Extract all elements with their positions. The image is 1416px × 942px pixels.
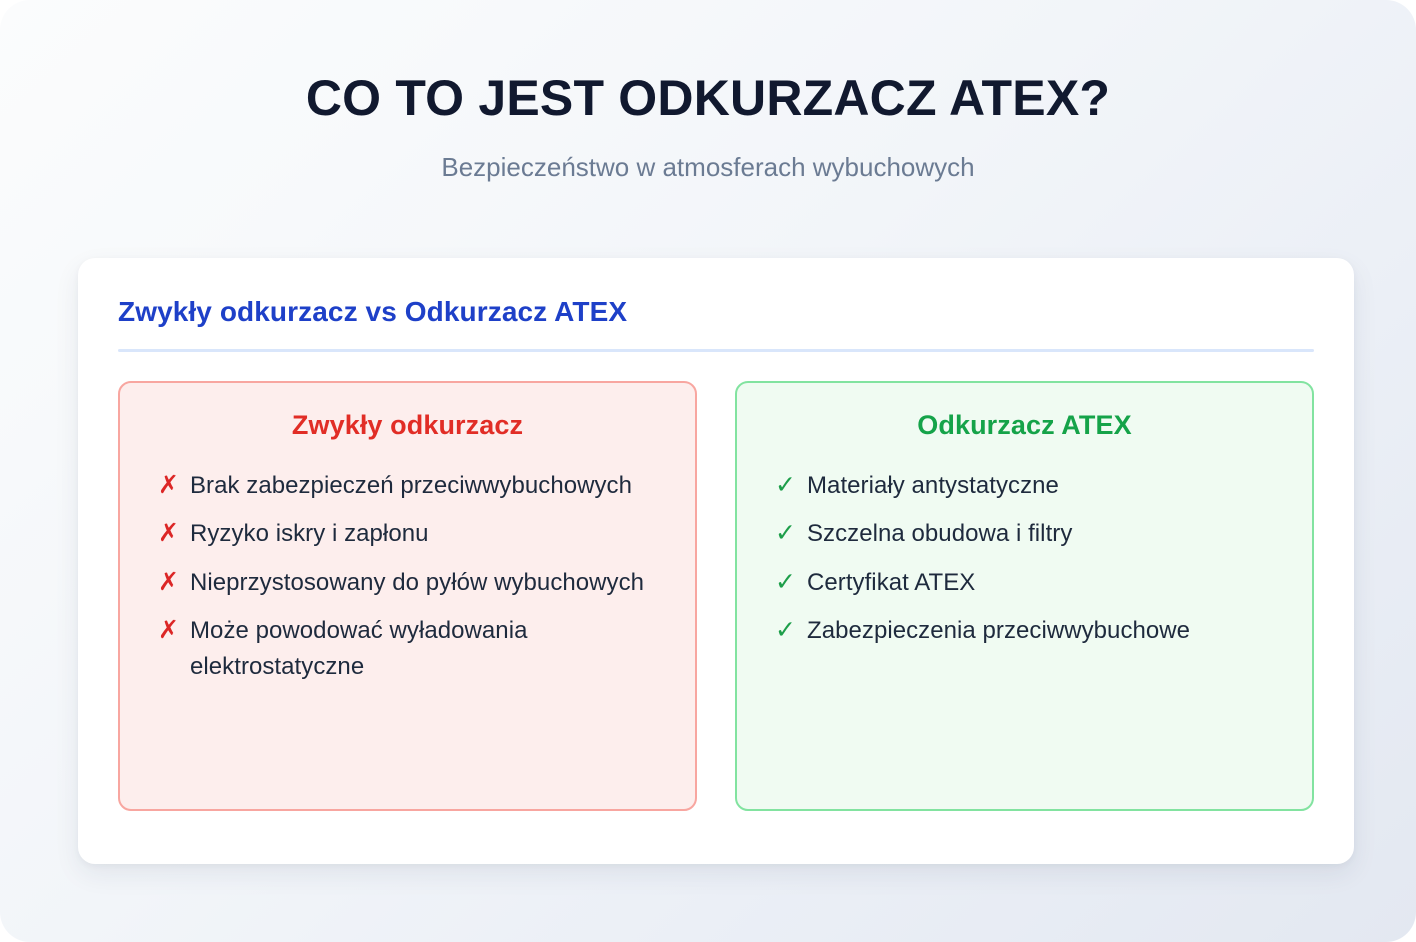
list-item-label: Nieprzystosowany do pyłów wybuchowych bbox=[190, 565, 644, 601]
panel-atex-vacuum-title: Odkurzacz ATEX bbox=[763, 409, 1286, 441]
page-title: CO TO JEST ODKURZACZ ATEX? bbox=[0, 72, 1416, 125]
list-item: ✗ Brak zabezpieczeń przeciwwybuchowych bbox=[146, 468, 669, 504]
check-icon: ✓ bbox=[775, 468, 794, 504]
list-item: ✓ Materiały antystatyczne bbox=[763, 468, 1286, 504]
list-item: ✗ Ryzyko iskry i zapłonu bbox=[146, 516, 669, 552]
list-item-label: Może powodować wyładowania elektrostatyc… bbox=[190, 613, 669, 684]
card-divider bbox=[118, 349, 1314, 352]
cross-icon: ✗ bbox=[158, 516, 177, 552]
comparison-card: Zwykły odkurzacz vs Odkurzacz ATEX Zwykł… bbox=[78, 258, 1354, 864]
list-item-label: Certyfikat ATEX bbox=[807, 565, 975, 601]
list-item-label: Zabezpieczenia przeciwwybuchowe bbox=[807, 613, 1190, 649]
list-item: ✗ Może powodować wyładowania elektrostat… bbox=[146, 613, 669, 684]
cross-icon: ✗ bbox=[158, 468, 177, 504]
list-item-label: Brak zabezpieczeń przeciwwybuchowych bbox=[190, 468, 632, 504]
atex-vacuum-feature-list: ✓ Materiały antystatyczne ✓ Szczelna obu… bbox=[763, 468, 1286, 649]
panel-atex-vacuum: Odkurzacz ATEX ✓ Materiały antystatyczne… bbox=[735, 381, 1314, 811]
regular-vacuum-feature-list: ✗ Brak zabezpieczeń przeciwwybuchowych ✗… bbox=[146, 468, 669, 685]
page-subtitle: Bezpieczeństwo w atmosferach wybuchowych bbox=[0, 152, 1416, 183]
list-item-label: Ryzyko iskry i zapłonu bbox=[190, 516, 429, 552]
cross-icon: ✗ bbox=[158, 565, 177, 601]
list-item-label: Materiały antystatyczne bbox=[807, 468, 1059, 504]
page-header: CO TO JEST ODKURZACZ ATEX? Bezpieczeństw… bbox=[0, 0, 1416, 183]
list-item-label: Szczelna obudowa i filtry bbox=[807, 516, 1072, 552]
check-icon: ✓ bbox=[775, 613, 794, 649]
list-item: ✓ Zabezpieczenia przeciwwybuchowe bbox=[763, 613, 1286, 649]
list-item: ✓ Certyfikat ATEX bbox=[763, 565, 1286, 601]
list-item: ✓ Szczelna obudowa i filtry bbox=[763, 516, 1286, 552]
comparison-card-title: Zwykły odkurzacz vs Odkurzacz ATEX bbox=[118, 296, 1314, 328]
cross-icon: ✗ bbox=[158, 613, 177, 649]
comparison-panels: Zwykły odkurzacz ✗ Brak zabezpieczeń prz… bbox=[118, 381, 1314, 811]
panel-regular-vacuum: Zwykły odkurzacz ✗ Brak zabezpieczeń prz… bbox=[118, 381, 697, 811]
check-icon: ✓ bbox=[775, 516, 794, 552]
list-item: ✗ Nieprzystosowany do pyłów wybuchowych bbox=[146, 565, 669, 601]
check-icon: ✓ bbox=[775, 565, 794, 601]
infographic-page: CO TO JEST ODKURZACZ ATEX? Bezpieczeństw… bbox=[0, 0, 1416, 942]
panel-regular-vacuum-title: Zwykły odkurzacz bbox=[146, 409, 669, 441]
